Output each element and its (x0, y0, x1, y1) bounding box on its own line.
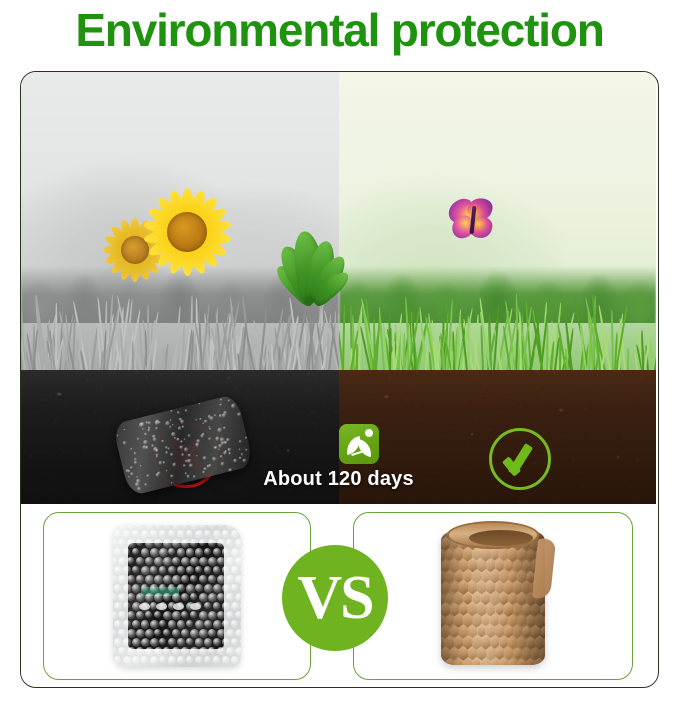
bubble (235, 575, 241, 584)
bubble (141, 548, 150, 557)
bubble (222, 602, 231, 611)
sun-dot (365, 429, 373, 437)
honeycomb-cell (508, 658, 516, 665)
honeycomb-cell (463, 548, 473, 562)
bubble (190, 539, 198, 547)
bubble (231, 548, 240, 557)
bubble (114, 656, 122, 664)
bubble (123, 620, 131, 628)
honeycomb-cell (467, 581, 477, 595)
bubble (150, 620, 159, 629)
bubble (235, 611, 241, 619)
grass-blade (88, 334, 91, 370)
bubble (235, 647, 241, 656)
bubble (231, 602, 240, 611)
bubble (132, 584, 141, 593)
honeycomb-cell (508, 593, 516, 605)
bubble (159, 548, 168, 557)
butterfly-icon (446, 198, 500, 246)
bubble (118, 539, 125, 546)
bubble (118, 557, 127, 566)
bubble (199, 593, 208, 602)
bubble (190, 647, 199, 656)
bubble (163, 539, 172, 548)
bubble (114, 548, 122, 556)
honeycomb-cell (527, 549, 535, 560)
bubble (213, 530, 222, 539)
honeycomb-cell (454, 570, 462, 582)
bubble (199, 629, 208, 638)
bubble (172, 539, 181, 548)
honeycomb-cell (495, 559, 504, 571)
bubble (213, 656, 221, 664)
bubble (181, 647, 189, 655)
bubble (154, 647, 163, 656)
honeycomb-cell (499, 548, 508, 561)
bubble (199, 525, 207, 529)
honeycomb-cell (445, 570, 454, 583)
honeycomb-cell (467, 559, 476, 573)
environmental-protection-infographic: Environmental protection (0, 0, 679, 706)
bubble (150, 656, 159, 665)
bubble (186, 530, 193, 537)
bubble (168, 638, 176, 646)
bubble (195, 656, 203, 664)
honeycomb-cell (472, 593, 480, 605)
bubble (132, 548, 139, 555)
bubble (163, 611, 172, 620)
honeycomb-cell (445, 549, 453, 561)
honeycomb-cell (517, 659, 525, 665)
bubble (172, 575, 181, 584)
bubble (226, 647, 235, 656)
vs-badge: VS (282, 545, 388, 651)
bubble (231, 620, 239, 628)
honeycomb-cell (441, 602, 450, 616)
bubble (190, 557, 199, 566)
bubble (217, 557, 225, 565)
bubble (204, 566, 212, 574)
bubble (226, 593, 234, 601)
bubble (127, 611, 135, 619)
bubble (222, 530, 230, 538)
page-title: Environmental protection (0, 2, 679, 58)
honeycomb-cell (499, 615, 507, 627)
bubble (222, 620, 230, 628)
bubble (204, 620, 212, 628)
bubble (235, 629, 241, 638)
bubble (150, 584, 159, 593)
bubble (159, 566, 167, 574)
honeycomb-cell (531, 603, 540, 616)
bubble (199, 647, 208, 656)
vs-label: VS (297, 567, 372, 629)
honeycomb-cell (458, 559, 467, 572)
bubble (213, 602, 221, 610)
bubble (181, 575, 189, 583)
honeycomb-cell (513, 603, 522, 616)
sunflower-core (167, 212, 207, 252)
bubble (177, 638, 185, 646)
leaf-shape (356, 439, 373, 457)
bubble (123, 584, 132, 593)
bubble (118, 647, 126, 655)
bubble (127, 525, 135, 529)
bubble (204, 602, 211, 609)
bubble (168, 530, 175, 537)
honeycomb-cell (513, 559, 522, 572)
bubble (208, 611, 217, 620)
grass-green (339, 275, 657, 370)
bubble (114, 566, 123, 575)
honeycomb-cell (508, 571, 516, 583)
bubble (181, 539, 190, 548)
bubble (177, 566, 185, 574)
bubble (226, 539, 233, 546)
bubble (231, 584, 238, 591)
bubble (114, 638, 123, 647)
grass-blade (627, 348, 629, 370)
bubble (177, 620, 186, 629)
bubble (213, 620, 222, 629)
bubble (123, 656, 132, 665)
honeycomb-cell (467, 625, 476, 638)
bubble (213, 548, 221, 556)
bubble (113, 629, 117, 637)
bubble (141, 638, 150, 647)
bubble (159, 638, 166, 645)
bubble (132, 656, 140, 664)
bubble (226, 575, 234, 583)
bubble (159, 656, 166, 663)
bubble (154, 557, 163, 566)
bubble (132, 530, 139, 537)
bubble (240, 584, 242, 593)
bubble (145, 647, 154, 656)
bubble (159, 584, 166, 591)
bubble (231, 656, 239, 664)
honeycomb-cell (513, 625, 522, 638)
honeycomb-cell (522, 625, 530, 637)
bubble (154, 539, 162, 547)
bubble (240, 656, 242, 664)
bubble (208, 525, 216, 529)
bubble (226, 629, 235, 638)
bubble (217, 525, 224, 528)
before-after-photo: About 120 days (21, 72, 656, 504)
bubble (240, 548, 242, 556)
bubble (190, 525, 199, 530)
honeycomb-cell (495, 604, 503, 615)
package-dot (173, 603, 184, 610)
honeycomb-cell (490, 614, 499, 626)
bubble (226, 611, 234, 619)
bubble (222, 584, 231, 593)
honeycomb-cell (481, 615, 489, 627)
bubble (240, 566, 242, 574)
bubble (231, 566, 239, 574)
bubble (186, 656, 194, 664)
honeycomb-cell (481, 570, 490, 583)
honeycomb-cell (499, 592, 508, 605)
bubble (213, 584, 222, 593)
bubble (132, 566, 139, 573)
bubble (213, 638, 221, 646)
bubble (172, 611, 181, 620)
bubble (154, 525, 162, 529)
bubble (168, 620, 177, 629)
honeycomb-cell (503, 647, 512, 660)
bubble (195, 638, 204, 647)
bubble (141, 530, 150, 539)
bubble (204, 638, 213, 647)
bubble (217, 575, 226, 584)
honeycomb-cell (495, 647, 504, 660)
honeycomb-cell (512, 580, 522, 594)
honeycomb-cell (495, 581, 504, 593)
bubble (235, 525, 241, 528)
honeycomb-cell (494, 625, 503, 638)
honeycomb-kraft-paper-roll-image (441, 521, 545, 671)
bubble (168, 656, 177, 665)
package-dot (190, 603, 201, 610)
bubble (168, 584, 176, 592)
bubble (204, 656, 211, 663)
bubble (113, 593, 117, 601)
bubble (113, 557, 117, 565)
bubble (195, 548, 204, 557)
bubble (177, 530, 185, 538)
bubble (113, 539, 117, 547)
bubble (159, 530, 167, 538)
bubble (208, 539, 216, 547)
honeycomb-cell (504, 559, 513, 571)
bubble (123, 566, 131, 574)
honeycomb-cell (521, 647, 530, 660)
bubble (172, 647, 180, 655)
grass-blade (356, 344, 358, 370)
honeycomb-cell (441, 582, 449, 594)
bubble (213, 566, 221, 574)
bubble (127, 539, 136, 548)
honeycomb-cell (517, 548, 526, 561)
bubble (204, 530, 211, 537)
bubble (177, 656, 185, 664)
honeycomb-cell (504, 625, 513, 638)
bubble (114, 602, 123, 611)
bubble (136, 525, 144, 529)
bubble (231, 638, 239, 646)
honeycomb-cell (476, 581, 485, 595)
honeycomb-cell (455, 659, 463, 665)
bubble (141, 584, 149, 592)
bubble (240, 620, 242, 628)
product-panel-kraft (353, 512, 633, 680)
honeycomb-cell (454, 636, 463, 650)
bubble (114, 584, 122, 592)
honeycomb-cell (441, 548, 445, 561)
honeycomb-cell (449, 603, 458, 617)
bubble (204, 548, 211, 555)
bubble (168, 566, 176, 574)
honeycomb-cell (517, 636, 526, 649)
package-dot (139, 603, 150, 610)
bubble (163, 525, 171, 529)
grass-blade (388, 305, 391, 370)
bubble (177, 584, 185, 592)
bubble (222, 656, 230, 664)
honeycomb-cell (522, 560, 530, 572)
bubble (235, 593, 241, 602)
honeycomb-cell (454, 592, 463, 605)
honeycomb-cell (499, 570, 509, 584)
bubble (222, 548, 230, 556)
bubble (123, 530, 131, 538)
bubble (136, 611, 144, 619)
bubble (217, 647, 225, 655)
honeycomb-cell (445, 615, 453, 627)
bubble (127, 557, 134, 564)
grass-blade (654, 297, 656, 370)
honeycomb-cell (473, 659, 481, 665)
bubble (181, 593, 189, 601)
bubble (114, 530, 121, 537)
honeycomb-cell (472, 549, 480, 561)
honeycomb-cell (450, 647, 459, 660)
honeycomb-cell (490, 548, 498, 560)
bubble (195, 620, 204, 629)
bubble (186, 548, 195, 557)
honeycomb-cell (450, 582, 458, 594)
bubble (226, 557, 234, 565)
honeycomb-cell (446, 593, 454, 604)
bubble (217, 629, 226, 638)
bubble (240, 602, 242, 610)
bubble (208, 647, 215, 654)
bubble (235, 557, 241, 566)
bubble (217, 539, 225, 547)
bubble (195, 584, 203, 592)
bubble (222, 638, 230, 646)
bubble (123, 638, 132, 647)
bubble (199, 575, 207, 583)
roll-body (441, 531, 545, 665)
decomposition-caption: About 120 days (21, 468, 656, 491)
bubble (150, 530, 158, 538)
honeycomb-cell (477, 626, 485, 638)
honeycomb-cell (518, 615, 526, 626)
bubble (163, 647, 170, 654)
bubble (136, 575, 144, 583)
bubble (177, 548, 186, 557)
bubble (199, 557, 208, 566)
honeycomb-cell (441, 560, 449, 572)
bubble (145, 575, 154, 584)
bubble (127, 647, 136, 656)
bubble (123, 548, 131, 556)
bubble (114, 620, 123, 629)
honeycomb-cell (526, 636, 535, 649)
bubble (141, 620, 150, 629)
product-panel-plastic (43, 512, 311, 680)
plastic-bubble-wrap-package-image (113, 525, 241, 667)
honeycomb-cell (508, 636, 518, 650)
bubble (123, 602, 130, 609)
honeycomb-cell (441, 593, 445, 605)
bubble (186, 638, 193, 645)
bubble (136, 647, 144, 655)
bubble (240, 530, 242, 537)
honeycomb-cell (450, 625, 459, 638)
bubble (222, 566, 230, 574)
green-plant-icon (259, 192, 369, 302)
bubble (136, 557, 144, 565)
honeycomb-cell (499, 636, 507, 648)
bubble (118, 575, 127, 584)
bubble (195, 530, 204, 539)
sunflower-icon (139, 184, 235, 280)
bubble (163, 557, 172, 566)
bubble (231, 530, 239, 538)
roll-rim-inner (469, 530, 533, 546)
bubble (118, 593, 127, 602)
roll-rim (447, 521, 539, 549)
package-dot (156, 603, 167, 610)
honeycomb-cell (522, 603, 531, 616)
grass-blade (266, 341, 269, 370)
honeycomb-cell (441, 570, 445, 584)
honeycomb-cell (463, 570, 472, 582)
honeycomb-cell (459, 604, 467, 616)
honeycomb-cell (513, 647, 521, 659)
bubble (235, 539, 241, 547)
bubble (150, 566, 158, 574)
bubble (186, 566, 194, 574)
bubble (141, 656, 149, 664)
honeycomb-cell (540, 626, 545, 637)
bubble (145, 539, 154, 548)
bubble (132, 638, 141, 647)
leaf-eco-icon (339, 424, 379, 464)
bubble (118, 629, 126, 637)
bubble (150, 638, 159, 647)
bubble (208, 557, 217, 566)
bubble (113, 647, 117, 655)
honeycomb-cell (485, 625, 494, 638)
bubble (181, 525, 189, 529)
bubble (240, 638, 242, 646)
honeycomb-cell (526, 614, 535, 627)
bubble (118, 611, 126, 619)
grass-blade (245, 348, 248, 370)
